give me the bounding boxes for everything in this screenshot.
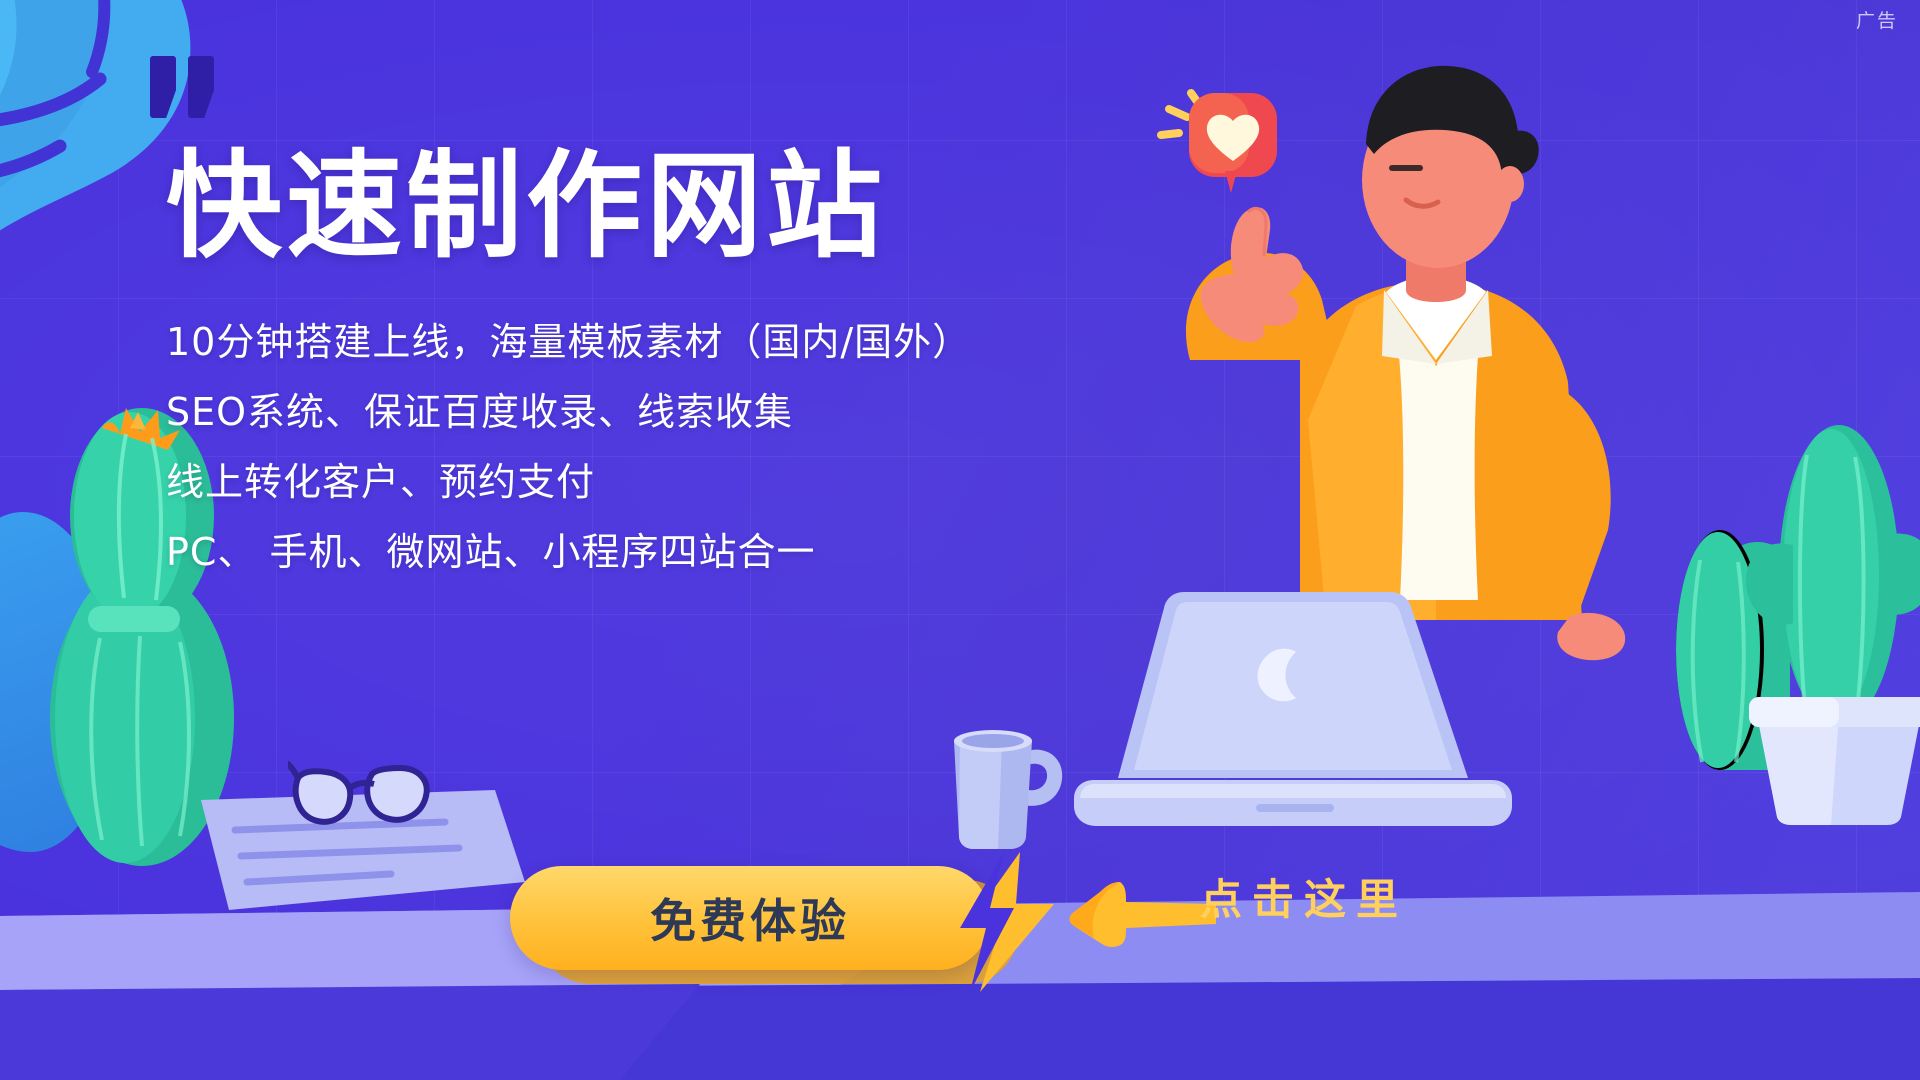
list-item: 线上转化客户、预约支付 [166, 463, 996, 501]
free-trial-button-label: 免费体验 [650, 885, 850, 951]
free-trial-button[interactable]: 免费体验 [510, 866, 990, 970]
list-item: PC、 手机、微网站、小程序四站合一 [166, 533, 996, 571]
arrow-left-icon [1068, 876, 1216, 954]
ad-banner[interactable]: 广告 快速制作网站 10分钟搭建上线，海量模板素材（国内/国外） SEO系统、保… [0, 0, 1920, 1080]
ad-copy-block: 快速制作网站 10分钟搭建上线，海量模板素材（国内/国外） SEO系统、保证百度… [166, 140, 996, 571]
coffee-mug-icon [940, 715, 1070, 850]
cactus-icon [1735, 385, 1920, 825]
feature-list: 10分钟搭建上线，海量模板素材（国内/国外） SEO系统、保证百度收录、线索收集… [166, 323, 996, 571]
heart-like-icon [1155, 75, 1295, 205]
quote-marks-icon [150, 56, 220, 126]
ad-label: 广告 [1856, 6, 1898, 33]
lightning-bolt-icon [960, 852, 1060, 992]
eyeglasses-icon [288, 760, 448, 838]
laptop-icon [1060, 580, 1530, 850]
list-item: 10分钟搭建上线，海量模板素材（国内/国外） [166, 323, 996, 361]
click-here-callout[interactable]: 点击这里 [1200, 866, 1408, 927]
list-item: SEO系统、保证百度收录、线索收集 [166, 393, 996, 431]
page-title: 快速制作网站 [166, 140, 996, 275]
